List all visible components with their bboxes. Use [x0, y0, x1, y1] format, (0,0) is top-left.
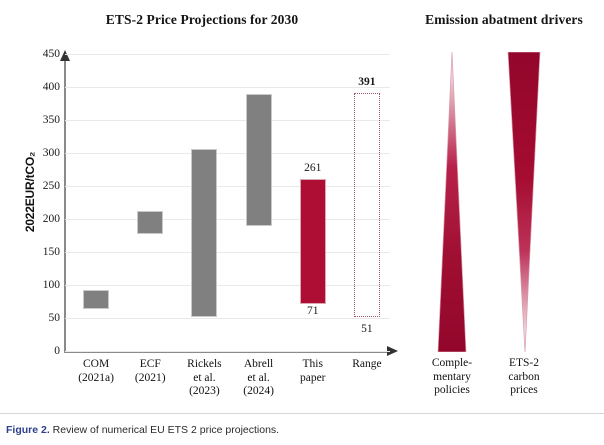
y-axis-tick-label: 0: [26, 345, 60, 357]
y-axis-tick-label: 400: [26, 81, 60, 93]
figure-caption-text: Review of numerical EU ETS 2 price proje…: [50, 424, 279, 436]
y-axis-tick-label: 350: [26, 114, 60, 126]
x-axis-category-line: Range: [338, 358, 396, 372]
price-projection-chart: ETS-2 Price Projections for 2030 2022EUR…: [0, 0, 404, 412]
plot-area: [65, 54, 390, 351]
gridline: [65, 318, 390, 319]
x-axis-category-line: paper: [284, 372, 342, 386]
x-axis-category-line: (2021a): [67, 372, 125, 386]
driver-label-line-3: prices: [481, 384, 567, 398]
x-axis-category-line: (2023): [175, 385, 233, 399]
x-axis-category-line: COM: [67, 358, 125, 372]
bar-range: [246, 94, 272, 226]
y-axis-tick-label: 100: [26, 279, 60, 291]
x-axis-category-line: Abrell: [230, 358, 288, 372]
ets2-carbon-prices-label: ETS-2 carbon prices: [481, 357, 567, 398]
y-axis-tick-label: 50: [26, 312, 60, 324]
y-axis-tick-label: 250: [26, 180, 60, 192]
y-axis-tick-label: 150: [26, 246, 60, 258]
bar-value-label-high: 261: [288, 162, 338, 174]
bar-value-label-low: 71: [288, 305, 338, 317]
bar-range: [137, 211, 163, 233]
triangle-apex-bottom-icon: [502, 52, 546, 352]
y-axis-tick-label: 300: [26, 147, 60, 159]
figure-caption: Figure 2. Review of numerical EU ETS 2 p…: [6, 424, 596, 436]
gridline: [65, 252, 390, 253]
emission-abatement-drivers-panel: Emission abatment drivers Comple- mentar…: [404, 0, 604, 412]
x-axis-category-line: et al.: [230, 372, 288, 386]
x-axis-category-label: Abrellet al.(2024): [230, 358, 288, 399]
bar-value-label-low: 51: [342, 323, 392, 335]
gridline: [65, 153, 390, 154]
bar-range: [191, 149, 217, 317]
x-axis-category-line: (2021): [121, 372, 179, 386]
y-axis-ticks: 050100150200250300350400450: [20, 0, 60, 412]
y-axis-tick-label: 450: [26, 48, 60, 60]
x-axis-category-label: Rickelset al.(2023): [175, 358, 233, 399]
right-panel-title: Emission abatment drivers: [404, 12, 604, 28]
bar-this-paper: [300, 179, 326, 304]
x-axis-category-label: ECF(2021): [121, 358, 179, 385]
figure-root: ETS-2 Price Projections for 2030 2022EUR…: [0, 0, 604, 445]
bar-value-label-high: 391: [342, 76, 392, 88]
x-axis-category-label: Range: [338, 358, 396, 372]
gridline: [65, 54, 390, 55]
driver-label-line-1: ETS-2: [481, 357, 567, 371]
gridline: [65, 120, 390, 121]
x-axis-category-label: COM(2021a): [67, 358, 125, 385]
gridline: [65, 219, 390, 220]
gridline: [65, 186, 390, 187]
complementary-policies-triangle: [432, 52, 472, 352]
x-axis-category-line: et al.: [175, 372, 233, 386]
figure-number: Figure 2.: [6, 424, 50, 436]
driver-label-line-2: carbon: [481, 371, 567, 385]
gridline: [65, 285, 390, 286]
x-axis-category-line: ECF: [121, 358, 179, 372]
x-axis-category-line: (2024): [230, 385, 288, 399]
bar-range: [83, 290, 109, 310]
y-axis-tick-label: 200: [26, 213, 60, 225]
x-axis-category-label: Thispaper: [284, 358, 342, 385]
gridline: [65, 351, 390, 352]
chart-title: ETS-2 Price Projections for 2030: [0, 12, 404, 28]
x-axis-category-line: Rickels: [175, 358, 233, 372]
ets2-carbon-prices-triangle: [502, 52, 546, 352]
triangle-apex-top-icon: [432, 52, 472, 352]
caption-divider: [0, 413, 604, 414]
range-outline-box: [354, 93, 380, 317]
x-axis-category-line: This: [284, 358, 342, 372]
